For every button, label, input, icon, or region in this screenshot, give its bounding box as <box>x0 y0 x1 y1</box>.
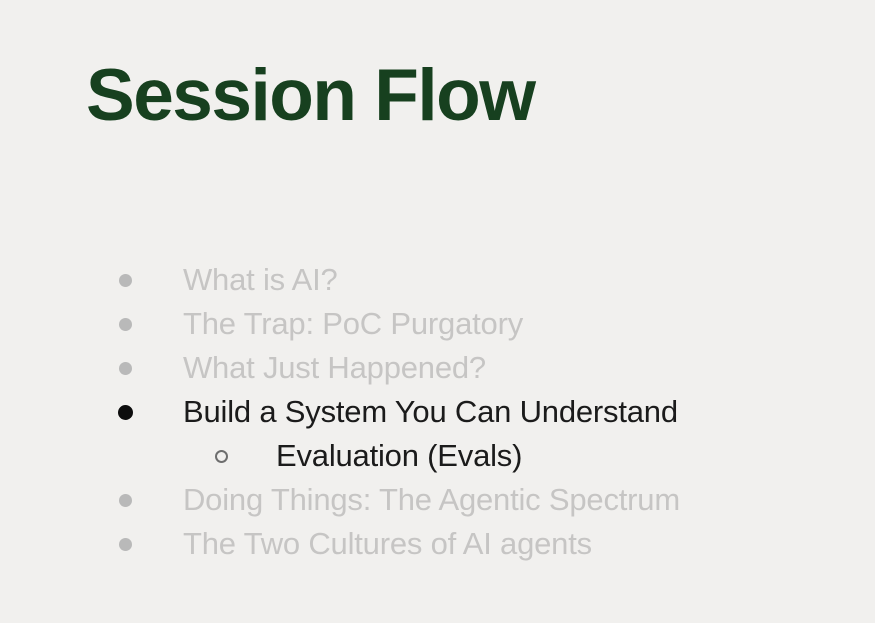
list-item[interactable]: The Two Cultures of AI agents <box>0 522 875 566</box>
filled-bullet-icon <box>114 522 136 566</box>
filled-bullet-icon <box>114 478 136 522</box>
filled-bullet-icon <box>114 346 136 390</box>
list-item-label: The Trap: PoC Purgatory <box>183 302 523 346</box>
list-item-label: The Two Cultures of AI agents <box>183 522 592 566</box>
filled-bullet-icon <box>114 302 136 346</box>
list-item[interactable]: What Just Happened? <box>0 346 875 390</box>
list-item-label: What is AI? <box>183 258 338 302</box>
list-item[interactable]: The Trap: PoC Purgatory <box>0 302 875 346</box>
list-item-sub[interactable]: Evaluation (Evals) <box>0 434 875 478</box>
hollow-bullet-icon <box>210 434 232 478</box>
list-item-label: Doing Things: The Agentic Spectrum <box>183 478 680 522</box>
list-item-label: Evaluation (Evals) <box>276 434 522 478</box>
agenda-list: What is AI? The Trap: PoC Purgatory What… <box>0 258 875 566</box>
list-item[interactable]: Doing Things: The Agentic Spectrum <box>0 478 875 522</box>
list-item[interactable]: What is AI? <box>0 258 875 302</box>
filled-bullet-icon <box>114 258 136 302</box>
slide-canvas: Session Flow What is AI? The Trap: PoC P… <box>0 0 875 623</box>
list-item-label: What Just Happened? <box>183 346 486 390</box>
list-item-label: Build a System You Can Understand <box>183 390 678 434</box>
filled-bullet-icon <box>114 390 136 434</box>
list-item-active[interactable]: Build a System You Can Understand <box>0 390 875 434</box>
page-title: Session Flow <box>86 59 534 132</box>
